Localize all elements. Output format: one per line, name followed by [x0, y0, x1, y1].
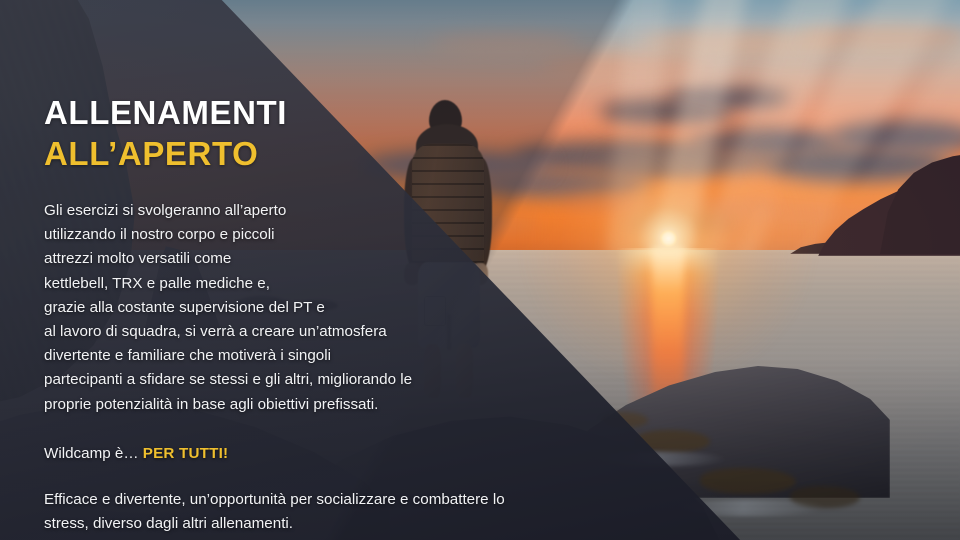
- title-line-1: ALLENAMENTI: [44, 94, 287, 131]
- body-paragraph: Gli esercizi si svolgeranno all’aperto u…: [44, 199, 664, 417]
- tagline-accent: PER TUTTI!: [143, 445, 229, 462]
- title-line-2: ALL’APERTO: [44, 133, 664, 174]
- tagline: Wildcamp è… PER TUTTI!: [44, 442, 664, 466]
- rock-algae-b: [700, 468, 796, 494]
- slide-content: ALLENAMENTI ALL’APERTO Gli esercizi si s…: [44, 92, 664, 536]
- slide-title: ALLENAMENTI ALL’APERTO: [44, 92, 664, 174]
- closing-paragraph: Efficace e divertente, un’opportunità pe…: [44, 488, 604, 536]
- presentation-slide: ALLENAMENTI ALL’APERTO Gli esercizi si s…: [0, 0, 960, 540]
- tagline-lead: Wildcamp è…: [44, 445, 143, 462]
- rock-wet-sheen-b: [676, 500, 826, 516]
